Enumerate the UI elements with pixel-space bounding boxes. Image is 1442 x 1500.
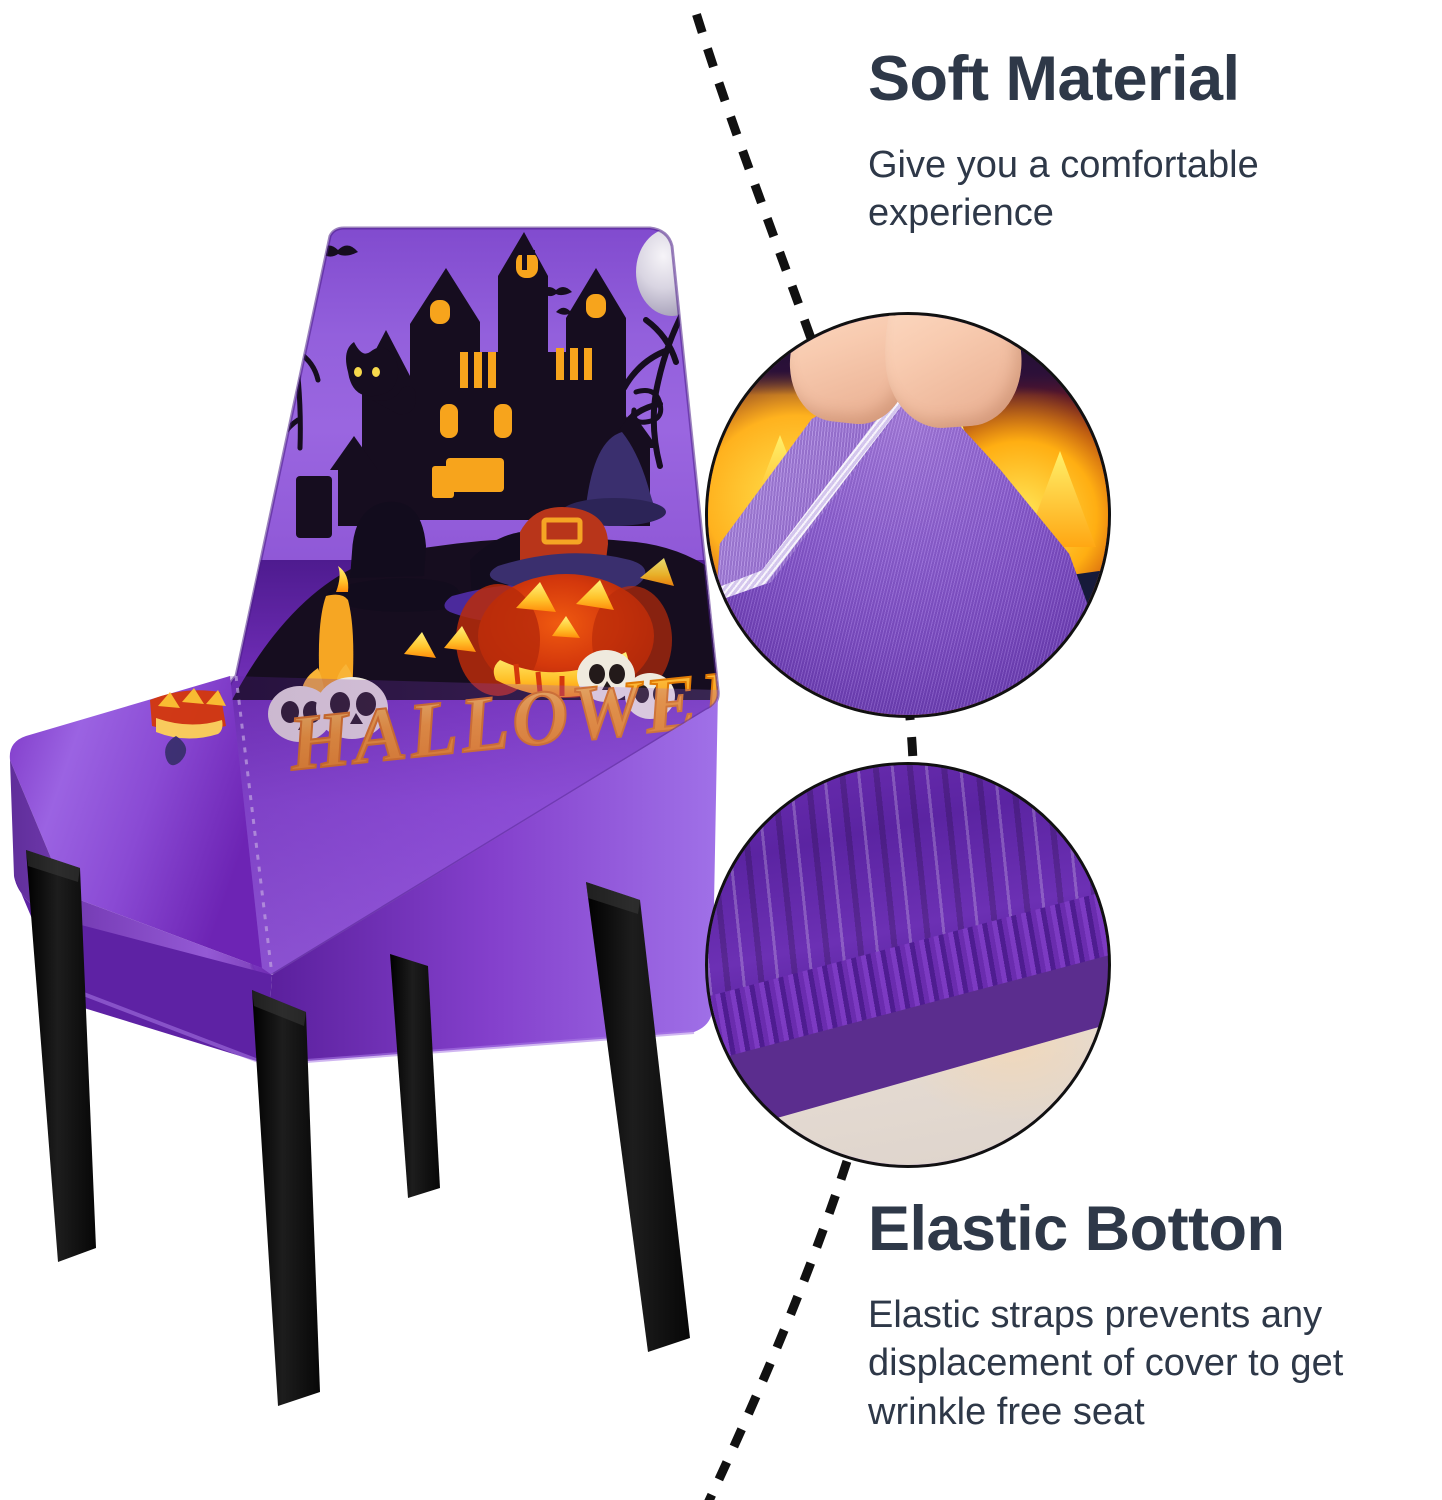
elastic-botton-callout	[705, 762, 1111, 1168]
elastic-botton-text-block: Elastic Botton Elastic straps prevents a…	[868, 1196, 1428, 1437]
soft-material-callout	[705, 312, 1111, 718]
soft-material-subline: Give you a comfortable experience	[868, 141, 1408, 238]
full-moon-icon	[636, 228, 708, 316]
elastic-botton-subline: Elastic straps prevents any displacement…	[868, 1291, 1428, 1437]
chair-svg: HALLOWEEN	[0, 0, 720, 1420]
soft-material-text-block: Soft Material Give you a comfortable exp…	[868, 46, 1408, 238]
chair-illustration: HALLOWEEN	[0, 0, 720, 1420]
soft-material-headline: Soft Material	[868, 46, 1408, 113]
infographic-canvas: HALLOWEEN	[0, 0, 1442, 1500]
elastic-botton-headline: Elastic Botton	[868, 1196, 1428, 1263]
